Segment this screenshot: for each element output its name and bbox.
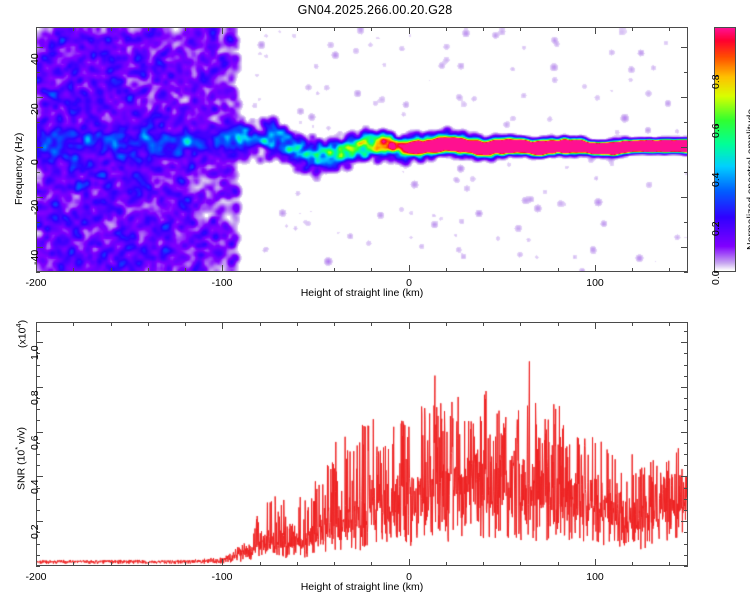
x-major-tick-top [595,322,596,329]
x-minor-tick [558,268,559,272]
y-minor-tick [36,544,40,545]
x-minor-tick [334,268,335,272]
x-minor-tick-top [148,322,149,326]
y-minor-tick [36,365,40,366]
y-minor-tick [36,272,40,273]
x-minor-tick [483,268,484,272]
x-minor-tick-top [260,322,261,326]
y-tick-label: 0.6 [29,435,41,450]
figure-title: GN04.2025.266.00.20.G28 [0,3,750,17]
x-minor-tick-top [558,322,559,326]
y-minor-tick-right [684,532,688,533]
x-minor-tick-top [334,322,335,326]
figure-canvas: GN04.2025.266.00.20.G28 -200-1000100-40-… [0,0,750,600]
y-minor-tick-right [684,409,688,410]
x-major-tick [409,559,410,566]
spectrogram-ylabel: Frequency (Hz) [13,133,25,205]
y-minor-tick [36,420,40,421]
x-minor-tick [148,562,149,566]
colorbar-tick-label: 0.6 [710,123,722,138]
x-minor-tick [446,562,447,566]
y-major-tick [36,521,43,522]
y-major-tick-right [681,247,688,248]
x-minor-tick [185,268,186,272]
x-minor-tick-top [148,27,149,31]
y-tick-label: 20 [29,103,41,115]
x-minor-tick [371,562,372,566]
x-major-tick-top [222,322,223,329]
x-minor-tick [260,268,261,272]
spectrogram-image [37,28,687,271]
x-major-tick-top [222,27,223,34]
x-minor-tick-top [520,322,521,326]
snr-xlabel: Height of straight line (km) [36,581,688,593]
colorbar-tick-label: 0.8 [710,74,722,89]
y-minor-tick [36,376,40,377]
y-minor-tick-right [684,544,688,545]
snr-trace [37,323,687,565]
x-minor-tick-top [260,27,261,31]
x-minor-tick [73,562,74,566]
x-major-tick [595,559,596,566]
y-minor-tick-right [684,272,688,273]
x-minor-tick [632,562,633,566]
y-minor-tick-right [684,443,688,444]
x-minor-tick [334,562,335,566]
x-minor-tick [148,268,149,272]
y-minor-tick-right [684,122,688,123]
x-minor-tick [73,268,74,272]
y-tick-label: 0.4 [29,479,41,494]
x-minor-tick [669,562,670,566]
x-minor-tick-top [111,27,112,31]
x-minor-tick-top [297,322,298,326]
x-minor-tick [297,562,298,566]
y-minor-tick [36,555,40,556]
y-minor-tick [36,465,40,466]
colorbar-title: Normalized spectral amplitude [745,109,750,250]
y-minor-tick-right [684,376,688,377]
y-major-tick-right [681,47,688,48]
x-minor-tick [669,268,670,272]
y-minor-tick-right [684,365,688,366]
y-major-tick [36,387,43,388]
y-major-tick [36,197,43,198]
snr-ylabel-exponent: * [13,447,22,450]
y-minor-tick-right [684,510,688,511]
x-minor-tick [371,268,372,272]
y-minor-tick-right [684,488,688,489]
y-tick-label: -20 [29,200,41,215]
y-minor-tick-right [684,172,688,173]
x-major-tick [595,265,596,272]
y-minor-tick [36,454,40,455]
x-major-tick [222,559,223,566]
x-minor-tick-top [334,27,335,31]
y-major-tick-right [681,147,688,148]
y-major-tick-right [681,387,688,388]
y-minor-tick [36,499,40,500]
x-minor-tick-top [446,27,447,31]
y-tick-label: -40 [29,250,41,265]
x-minor-tick-top [520,27,521,31]
y-minor-tick-right [684,72,688,73]
x-minor-tick [446,268,447,272]
x-minor-tick-top [669,27,670,31]
x-minor-tick-top [483,322,484,326]
y-minor-tick [36,409,40,410]
y-tick-label: 0.8 [29,390,41,405]
y-major-tick [36,147,43,148]
x-major-tick-top [409,27,410,34]
y-major-tick-right [681,521,688,522]
x-minor-tick [520,268,521,272]
x-major-tick [36,265,37,272]
x-minor-tick-top [558,27,559,31]
x-minor-tick [260,562,261,566]
y-major-tick [36,47,43,48]
snr-plot-area [37,323,687,565]
x-major-tick [222,265,223,272]
y-tick-label: 0 [29,159,41,165]
x-minor-tick-top [73,27,74,31]
x-major-tick-top [409,322,410,329]
colorbar-tick-label: 0.2 [710,221,722,236]
x-minor-tick-top [446,322,447,326]
y-major-tick-right [681,432,688,433]
colorbar-tick-label: 0.4 [710,172,722,187]
x-minor-tick-top [185,322,186,326]
x-minor-tick-top [669,322,670,326]
y-major-tick [36,476,43,477]
y-major-tick [36,247,43,248]
x-minor-tick-top [371,322,372,326]
y-minor-tick [36,510,40,511]
x-minor-tick-top [632,27,633,31]
snr-ylabel: SNR (10* v/v) [13,427,28,490]
x-minor-tick-top [483,27,484,31]
y-major-tick [36,342,43,343]
x-minor-tick [111,562,112,566]
x-major-tick [36,559,37,566]
y-minor-tick-right [684,555,688,556]
y-minor-tick [36,566,40,567]
x-minor-tick [558,562,559,566]
spectrogram-panel [36,27,688,272]
x-minor-tick-top [632,322,633,326]
x-minor-tick [520,562,521,566]
x-minor-tick-top [371,27,372,31]
y-minor-tick-right [684,465,688,466]
y-minor-tick [36,222,40,223]
x-major-tick [409,265,410,272]
y-major-tick [36,97,43,98]
y-minor-tick [36,122,40,123]
y-minor-tick-right [684,566,688,567]
x-minor-tick-top [111,322,112,326]
x-minor-tick-top [297,27,298,31]
x-minor-tick [483,562,484,566]
spectrogram-xlabel: Height of straight line (km) [36,287,688,299]
x-minor-tick [297,268,298,272]
y-minor-tick-right [684,454,688,455]
y-minor-tick [36,72,40,73]
y-minor-tick [36,172,40,173]
x-minor-tick-top [185,27,186,31]
x-minor-tick [185,562,186,566]
y-minor-tick-right [684,398,688,399]
y-minor-tick-right [684,222,688,223]
y-major-tick-right [681,97,688,98]
x-major-tick-top [595,27,596,34]
y-tick-label: 0.2 [29,524,41,539]
x-minor-tick [111,268,112,272]
y-major-tick-right [681,197,688,198]
y-major-tick-right [681,476,688,477]
y-minor-tick-right [684,353,688,354]
y-minor-tick-right [684,331,688,332]
x-major-tick-top [36,322,37,329]
x-minor-tick-top [73,322,74,326]
snr-y-multiplier: (x104) [14,320,29,348]
y-major-tick-right [681,342,688,343]
colorbar-tick-label: 0.0 [710,270,722,285]
y-tick-label: 1.0 [29,345,41,360]
y-major-tick [36,432,43,433]
x-minor-tick [632,268,633,272]
snr-panel [36,322,688,566]
y-minor-tick [36,331,40,332]
y-minor-tick-right [684,420,688,421]
snr-multiplier-exponent: 4 [14,323,23,327]
y-tick-label: 40 [29,53,41,65]
x-major-tick-top [36,27,37,34]
spectrogram-plot-area [37,28,687,271]
y-minor-tick-right [684,499,688,500]
